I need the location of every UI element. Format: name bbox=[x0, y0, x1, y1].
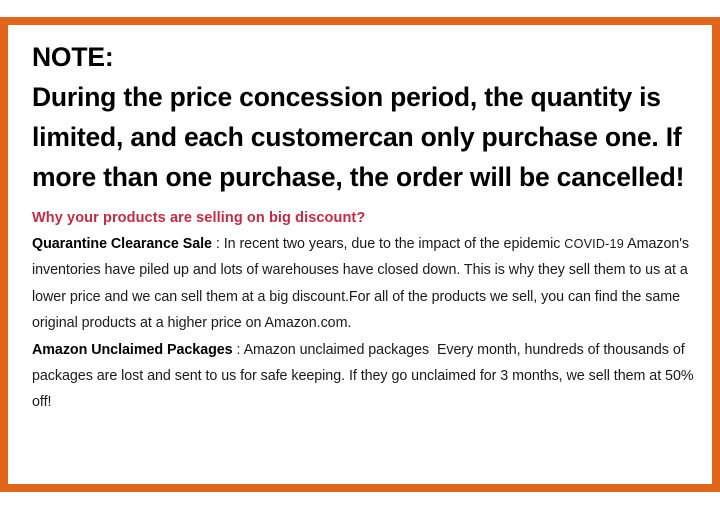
paragraph-inline-gap bbox=[429, 342, 437, 358]
notice-card-inner: NOTE: During the price concession period… bbox=[8, 25, 712, 484]
page-title: NOTE: During the price concession period… bbox=[32, 37, 702, 197]
paragraph-separator-unclaimed: : bbox=[233, 342, 244, 358]
paragraph-amazon-unclaimed-packages: Amazon Unclaimed Packages : Amazon uncla… bbox=[32, 337, 702, 416]
subheading-question: Why your products are selling on big dis… bbox=[32, 207, 702, 229]
paragraph-separator-quarantine: : bbox=[212, 236, 224, 252]
paragraph-text-before-covid: In recent two years, due to the impact o… bbox=[224, 236, 565, 252]
covid-19-term: COVID-19 bbox=[564, 237, 624, 251]
paragraph-text-before-gap: Amazon unclaimed packages bbox=[244, 342, 430, 358]
paragraph-label-unclaimed: Amazon Unclaimed Packages bbox=[32, 342, 233, 358]
notice-page: NOTE: During the price concession period… bbox=[0, 0, 720, 514]
paragraph-quarantine-clearance-sale: Quarantine Clearance Sale : In recent tw… bbox=[32, 231, 702, 337]
paragraph-label-quarantine: Quarantine Clearance Sale bbox=[32, 236, 212, 252]
notice-card: NOTE: During the price concession period… bbox=[0, 17, 720, 492]
body-text-block: Quarantine Clearance Sale : In recent tw… bbox=[32, 231, 702, 416]
